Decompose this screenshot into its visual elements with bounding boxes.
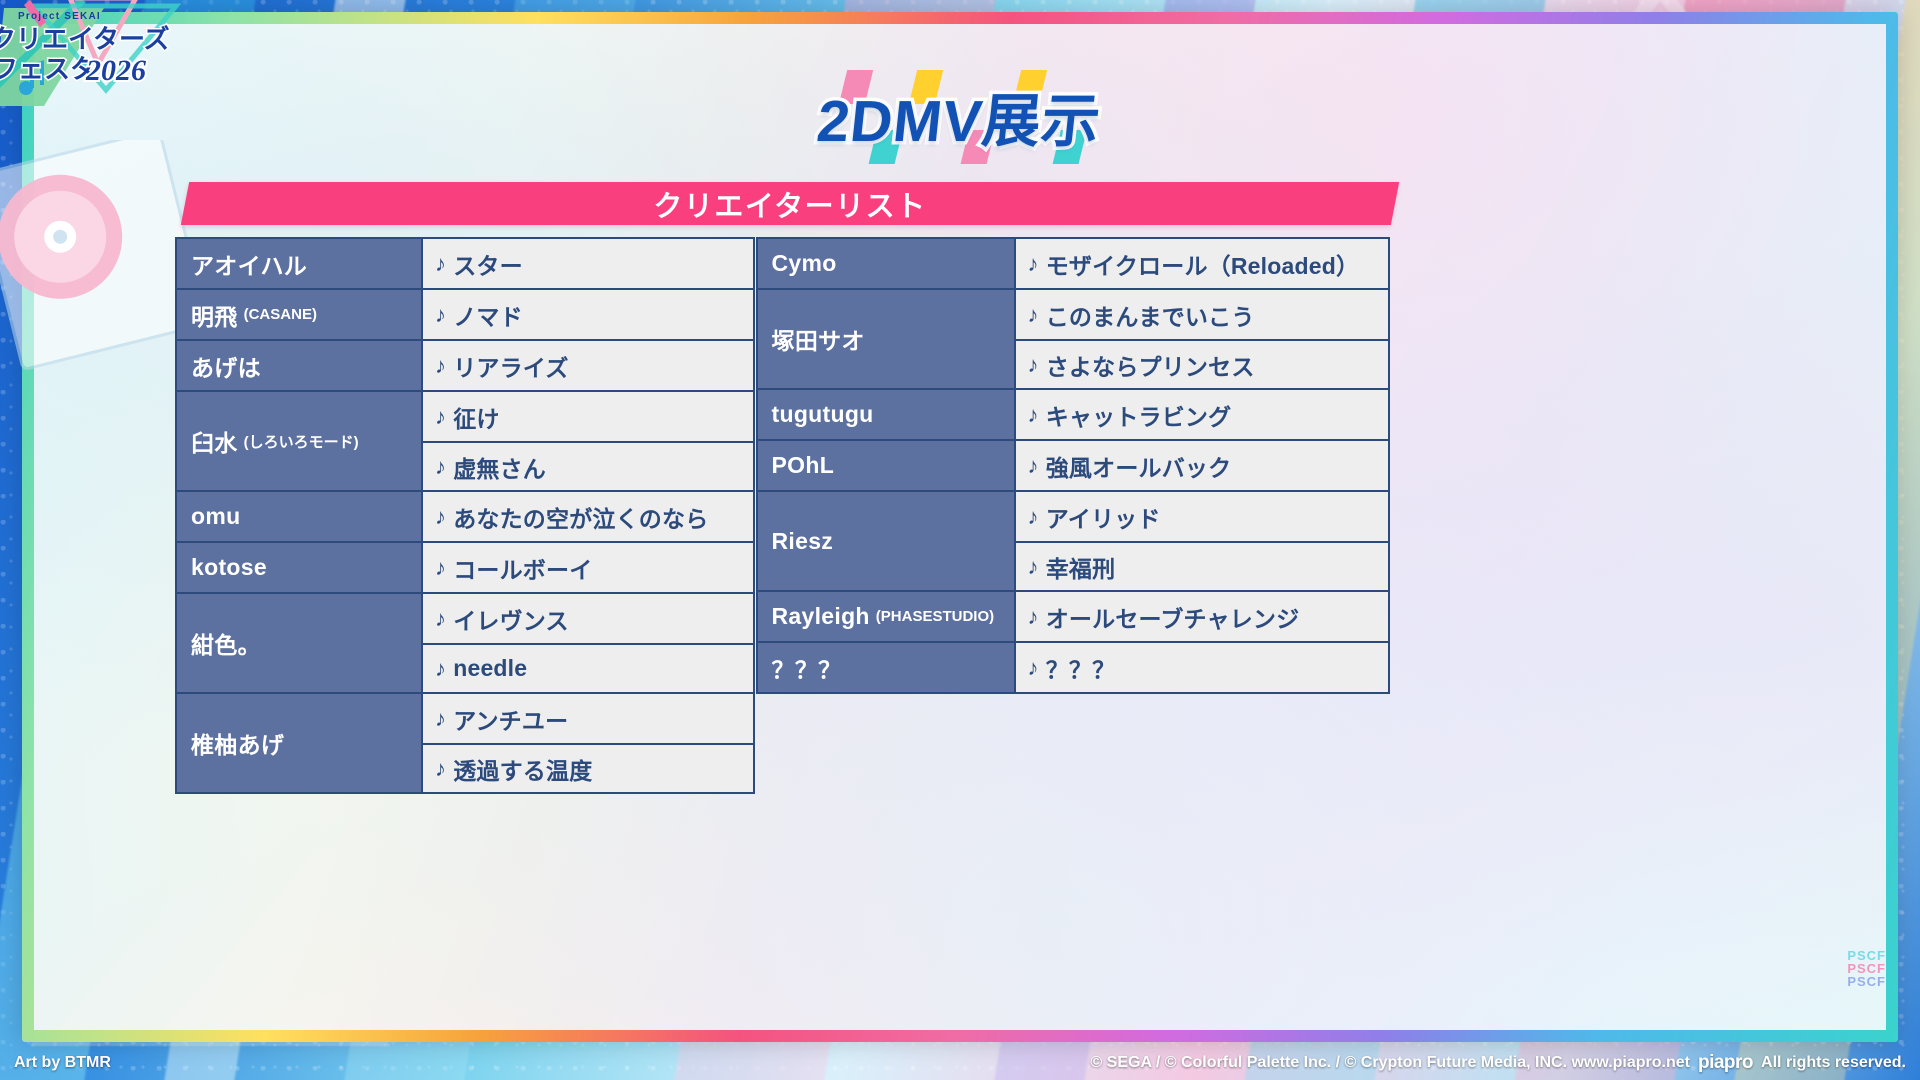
table-row: POhL♪強風オールバック xyxy=(756,439,1390,490)
song-cell: ♪コールボーイ xyxy=(423,543,753,592)
creator-name-cell: 椎柚あげ xyxy=(177,694,423,792)
creator-list-table: アオイハル♪スター明飛(CASANE)♪ノマドあげは♪リアライズ臼水(しろいろモ… xyxy=(175,237,1390,794)
copyright-group: © SEGA / © Colorful Palette Inc. / © Cry… xyxy=(1090,1052,1906,1074)
title-chip-yellow xyxy=(1013,70,1047,104)
music-note-icon: ♪ xyxy=(435,706,446,732)
song-title: キャットラビング xyxy=(1046,398,1232,432)
music-note-icon: ♪ xyxy=(435,404,446,430)
creator-name-subtitle: (しろいろモード) xyxy=(244,431,359,452)
song-title: 強風オールバック xyxy=(1046,449,1232,483)
song-list: ♪リアライズ xyxy=(423,341,753,390)
page-title: 2DMV展示 xyxy=(0,74,1920,158)
music-note-icon: ♪ xyxy=(435,504,446,530)
music-note-icon: ♪ xyxy=(435,353,446,379)
creator-name-cell: ？？？ xyxy=(758,643,1016,692)
song-list: ♪キャットラビング xyxy=(1016,390,1388,439)
creator-name-cell: あげは xyxy=(177,341,423,390)
song-cell: ♪モザイクロール（Reloaded） xyxy=(1016,239,1388,288)
song-cell: ♪あなたの空が泣くのなら xyxy=(423,492,753,541)
creator-name-cell: omu xyxy=(177,492,423,541)
song-cell: ♪イレヴンス xyxy=(423,594,753,643)
music-note-icon: ♪ xyxy=(1028,352,1039,378)
song-cell: ♪このまんまでいこう xyxy=(1016,290,1388,339)
creator-name-cell: tugutugu xyxy=(758,390,1016,439)
song-title: needle xyxy=(453,655,527,682)
table-row: 塚田サオ♪このまんまでいこう♪さよならプリンセス xyxy=(756,288,1390,388)
creator-name: tugutugu xyxy=(772,401,874,428)
creator-name-cell: 臼水(しろいろモード) xyxy=(177,392,423,490)
creator-name: あげは xyxy=(191,349,261,383)
creator-name: ？？？ xyxy=(772,651,842,685)
song-cell: ♪幸福刑 xyxy=(1016,541,1388,590)
piapro-logo: piapro xyxy=(1698,1052,1753,1074)
table-row: Rayleigh(PHASESTUDIO)♪オールセーブチャレンジ xyxy=(756,590,1390,641)
music-note-icon: ♪ xyxy=(435,251,446,277)
logo-line1: クリエイターズ xyxy=(0,24,170,54)
song-cell: ♪征け xyxy=(423,392,753,441)
creator-name-cell: アオイハル xyxy=(177,239,423,288)
table-row: 椎柚あげ♪アンチユー♪透過する温度 xyxy=(175,692,755,794)
music-note-icon: ♪ xyxy=(1028,655,1039,681)
music-note-icon: ♪ xyxy=(1028,402,1039,428)
creator-name-cell: 紺色。 xyxy=(177,594,423,692)
creator-name-cell: Rayleigh(PHASESTUDIO) xyxy=(758,592,1016,641)
music-note-icon: ♪ xyxy=(1028,453,1039,479)
creator-name: 紺色。 xyxy=(191,626,261,660)
music-note-icon: ♪ xyxy=(435,756,446,782)
creator-name-cell: Riesz xyxy=(758,492,1016,590)
song-title: リアライズ xyxy=(453,349,568,383)
song-cell: ♪スター xyxy=(423,239,753,288)
table-row: Cymo♪モザイクロール（Reloaded） xyxy=(756,237,1390,288)
logo-year: 2026 xyxy=(85,54,146,87)
song-title: あなたの空が泣くのなら xyxy=(453,500,708,534)
creator-name-cell: 塚田サオ xyxy=(758,290,1016,388)
song-list: ♪アイリッド♪幸福刑 xyxy=(1016,492,1388,590)
song-list: ♪イレヴンス♪needle xyxy=(423,594,753,692)
table-row: tugutugu♪キャットラビング xyxy=(756,388,1390,439)
song-cell: ♪アイリッド xyxy=(1016,492,1388,541)
song-title: コールボーイ xyxy=(453,551,592,585)
table-row: ？？？♪？？？ xyxy=(756,641,1390,694)
creator-name: Riesz xyxy=(772,528,834,555)
creator-name-cell: 明飛(CASANE) xyxy=(177,290,423,339)
creator-name: Rayleigh xyxy=(772,603,870,630)
creator-name-cell: POhL xyxy=(758,441,1016,490)
table-row: 明飛(CASANE)♪ノマド xyxy=(175,288,755,339)
song-title: イレヴンス xyxy=(453,602,569,636)
song-cell: ♪虚無さん xyxy=(423,441,753,490)
song-list: ♪ノマド xyxy=(423,290,753,339)
song-list: ♪アンチユー♪透過する温度 xyxy=(423,694,753,792)
song-cell: ♪キャットラビング xyxy=(1016,390,1388,439)
music-note-icon: ♪ xyxy=(1028,554,1039,580)
music-note-icon: ♪ xyxy=(1028,604,1039,630)
music-note-icon: ♪ xyxy=(435,454,446,480)
creator-name: 椎柚あげ xyxy=(191,726,284,760)
creator-name-subtitle: (PHASESTUDIO) xyxy=(876,608,994,625)
logo-superscript: Project SEKAI xyxy=(18,11,101,22)
song-title: 透過する温度 xyxy=(453,752,592,786)
song-title: アンチユー xyxy=(453,702,568,736)
song-cell: ♪オールセーブチャレンジ xyxy=(1016,592,1388,641)
song-list: ♪オールセーブチャレンジ xyxy=(1016,592,1388,641)
song-list: ♪モザイクロール（Reloaded） xyxy=(1016,239,1388,288)
music-note-icon: ♪ xyxy=(1028,251,1039,277)
song-cell: ♪アンチユー xyxy=(423,694,753,743)
table-row: アオイハル♪スター xyxy=(175,237,755,288)
music-note-icon: ♪ xyxy=(1028,302,1039,328)
table-row: Riesz♪アイリッド♪幸福刑 xyxy=(756,490,1390,590)
creator-name: アオイハル xyxy=(191,247,307,281)
song-title: アイリッド xyxy=(1046,500,1161,534)
song-title: ノマド xyxy=(453,298,523,332)
creator-name-subtitle: (CASANE) xyxy=(244,306,317,323)
music-note-icon: ♪ xyxy=(1028,504,1039,530)
table-row: omu♪あなたの空が泣くのなら xyxy=(175,490,755,541)
title-chip-yellow xyxy=(909,70,943,104)
creator-list-left-column: アオイハル♪スター明飛(CASANE)♪ノマドあげは♪リアライズ臼水(しろいろモ… xyxy=(175,237,755,794)
page-title-text: 2DMV展示 xyxy=(814,74,1106,158)
song-title: 幸福刑 xyxy=(1046,550,1116,584)
song-title: このまんまでいこう xyxy=(1046,298,1255,332)
creator-name: Cymo xyxy=(772,250,837,277)
music-note-icon: ♪ xyxy=(435,656,446,682)
song-cell: ♪さよならプリンセス xyxy=(1016,339,1388,388)
creator-name-cell: kotose xyxy=(177,543,423,592)
creator-name: kotose xyxy=(191,554,267,581)
song-list: ♪あなたの空が泣くのなら xyxy=(423,492,753,541)
art-credit: Art by BTMR xyxy=(14,1054,111,1072)
creators-festa-logo: Project SEKAI クリエイターズ クリエイターズ フェスタ フェスタ … xyxy=(0,0,196,114)
song-list: ♪？？？ xyxy=(1016,643,1388,692)
logo-graphic: Project SEKAI クリエイターズ クリエイターズ フェスタ フェスタ … xyxy=(0,0,196,114)
song-cell: ♪強風オールバック xyxy=(1016,441,1388,490)
creator-name: omu xyxy=(191,503,240,530)
song-cell: ♪透過する温度 xyxy=(423,743,753,792)
song-title: 征け xyxy=(453,400,499,434)
creator-name: POhL xyxy=(772,452,835,479)
song-list: ♪コールボーイ xyxy=(423,543,753,592)
song-list: ♪強風オールバック xyxy=(1016,441,1388,490)
song-title: ？？？ xyxy=(1046,651,1116,685)
pscf-mark-line-3: PSCF xyxy=(1847,975,1886,988)
logo-line2: フェスタ xyxy=(0,54,96,84)
song-cell: ♪？？？ xyxy=(1016,643,1388,692)
screen-root: Project SEKAI クリエイターズ クリエイターズ フェスタ フェスタ … xyxy=(0,0,1920,1080)
music-note-icon: ♪ xyxy=(435,606,446,632)
song-cell: ♪リアライズ xyxy=(423,341,753,390)
pscf-corner-mark: PSCF PSCF PSCF xyxy=(1847,949,1886,988)
song-cell: ♪ノマド xyxy=(423,290,753,339)
music-note-icon: ♪ xyxy=(435,555,446,581)
song-cell: ♪needle xyxy=(423,643,753,692)
footer-bar: Art by BTMR © SEGA / © Colorful Palette … xyxy=(0,1046,1920,1080)
creator-name-cell: Cymo xyxy=(758,239,1016,288)
rights-text: All rights reserved. xyxy=(1761,1054,1906,1072)
creator-list-right-column: Cymo♪モザイクロール（Reloaded）塚田サオ♪このまんまでいこう♪さよな… xyxy=(756,237,1390,794)
song-title: さよならプリンセス xyxy=(1046,348,1255,382)
song-title: 虚無さん xyxy=(453,450,546,484)
song-list: ♪征け♪虚無さん xyxy=(423,392,753,490)
music-note-icon: ♪ xyxy=(435,302,446,328)
song-title: オールセーブチャレンジ xyxy=(1046,600,1300,634)
section-header-label: クリエイターリスト xyxy=(185,182,1395,225)
song-list: ♪スター xyxy=(423,239,753,288)
creator-name: 臼水 xyxy=(191,424,238,458)
table-row: kotose♪コールボーイ xyxy=(175,541,755,592)
table-row: あげは♪リアライズ xyxy=(175,339,755,390)
song-title: スター xyxy=(453,247,523,281)
song-list: ♪このまんまでいこう♪さよならプリンセス xyxy=(1016,290,1388,388)
creator-name: 明飛 xyxy=(191,298,238,332)
table-row: 紺色。♪イレヴンス♪needle xyxy=(175,592,755,692)
copyright-text: © SEGA / © Colorful Palette Inc. / © Cry… xyxy=(1090,1054,1690,1072)
title-chip-pink xyxy=(839,70,873,104)
table-row: 臼水(しろいろモード)♪征け♪虚無さん xyxy=(175,390,755,490)
song-title: モザイクロール（Reloaded） xyxy=(1046,247,1359,281)
creator-name: 塚田サオ xyxy=(772,322,865,356)
